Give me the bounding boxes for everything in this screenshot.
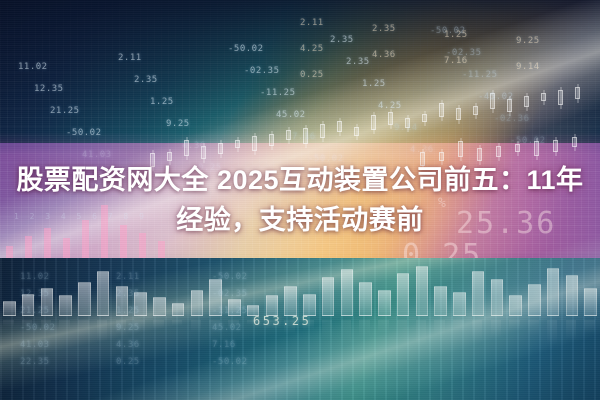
headline-line-2: 经验，支持活动赛前: [14, 200, 586, 240]
stock-banner-image: 11.022.11-50.022.35-50.0212.352.35-02.35…: [0, 0, 600, 400]
headline-line-1: 股票配资网大全 2025互动装置公司前五：11年: [16, 165, 583, 195]
banner-headline: 股票配资网大全 2025互动装置公司前五：11年 经验，支持活动赛前: [0, 160, 600, 240]
